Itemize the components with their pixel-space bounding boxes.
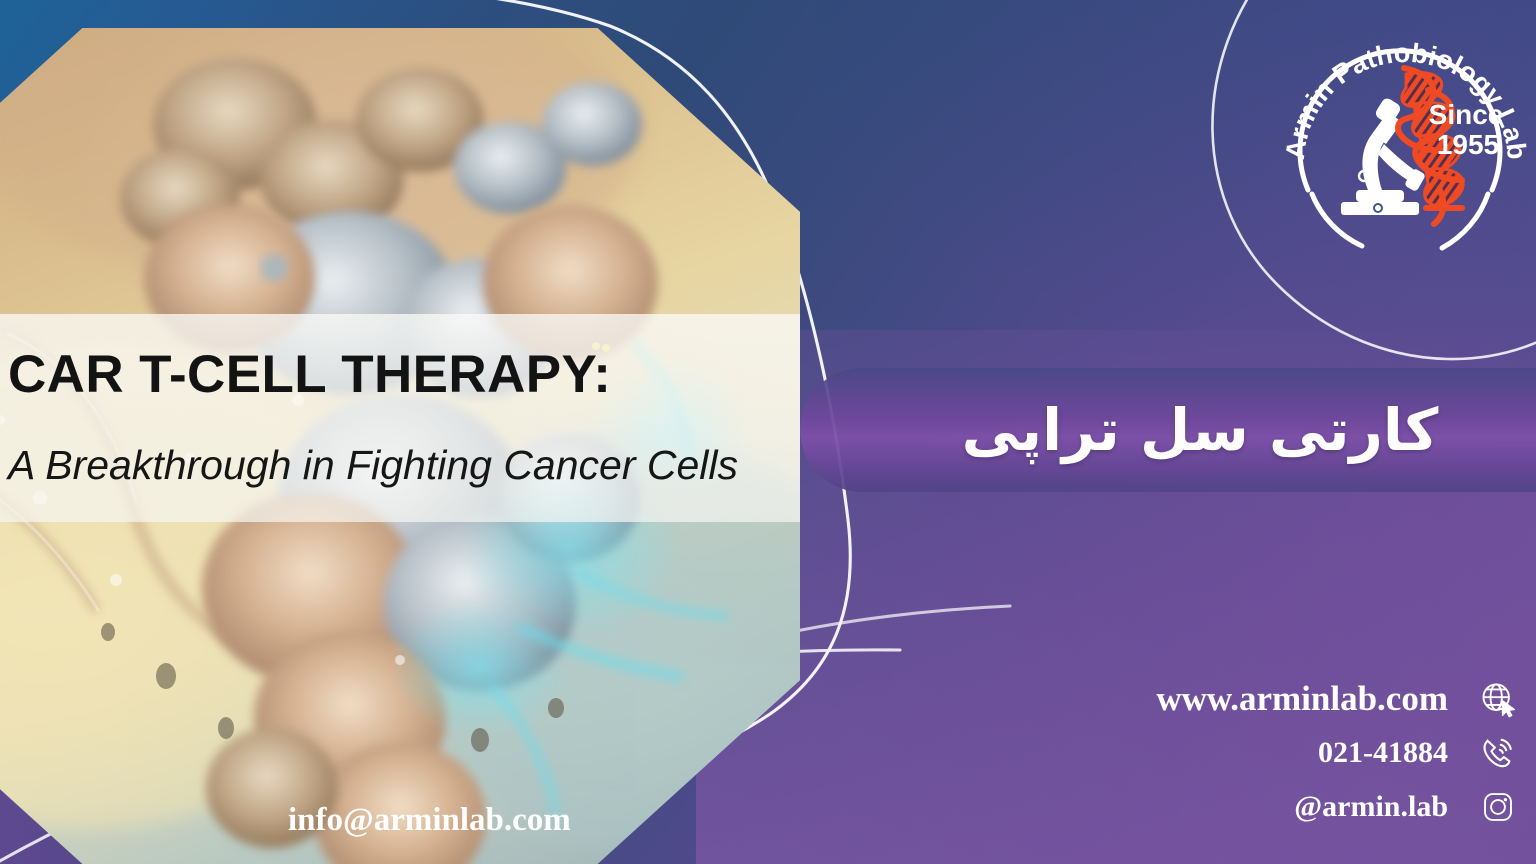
email-label[interactable]: info@arminlab.com	[288, 802, 571, 839]
hero-image: CAR T-CELL THERAPY: A Breakthrough in Fi…	[0, 28, 800, 864]
website-label: www.arminlab.com	[1020, 679, 1448, 719]
contact-instagram[interactable]: @armin.lab	[1020, 780, 1520, 834]
contact-website[interactable]: www.arminlab.com	[1020, 672, 1520, 726]
logo-since-year: 1955	[1437, 129, 1499, 160]
contact-list: www.arminlab.com 021-41884	[1020, 672, 1520, 834]
hero-headline: CAR T-CELL THERAPY:	[8, 347, 800, 403]
instagram-label: @armin.lab	[1020, 790, 1448, 824]
contact-phone[interactable]: 021-41884	[1020, 726, 1520, 780]
page-title: کارتی سل تراپی	[922, 396, 1439, 464]
instagram-icon	[1476, 785, 1520, 829]
globe-cursor-icon	[1476, 677, 1520, 721]
logo-mark: Armin Pathobiology Lab	[1256, 0, 1536, 282]
logo-since-label: Since	[1429, 99, 1504, 130]
hero-caption-band: CAR T-CELL THERAPY: A Breakthrough in Fi…	[0, 314, 800, 522]
phone-ringing-icon	[1476, 731, 1520, 775]
logo[interactable]: Armin Pathobiology Lab	[1256, 0, 1536, 282]
poster-canvas: CAR T-CELL THERAPY: A Breakthrough in Fi…	[0, 0, 1536, 864]
title-band: کارتی سل تراپی	[800, 368, 1536, 492]
hero-subheadline: A Breakthrough in Fighting Cancer Cells	[8, 442, 800, 489]
phone-label: 021-41884	[1020, 736, 1448, 770]
